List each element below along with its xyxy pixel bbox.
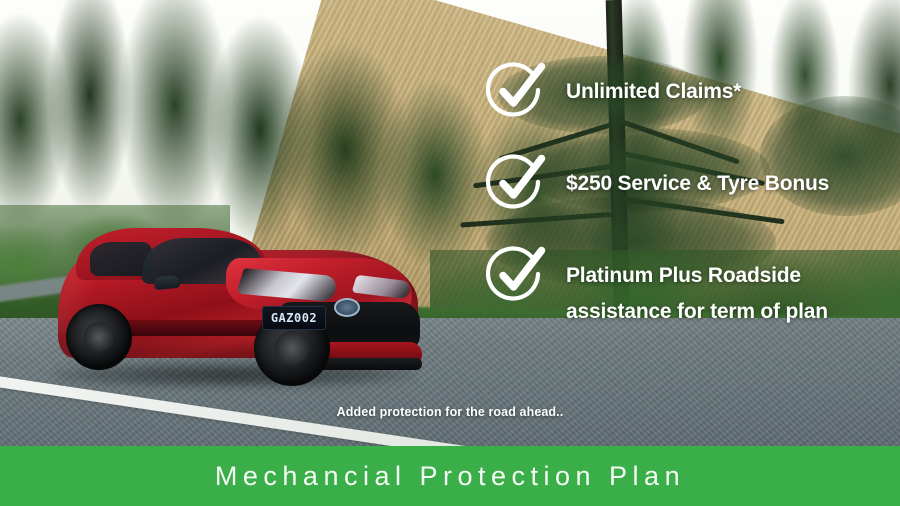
benefit-item: Unlimited Claims* bbox=[486, 64, 886, 122]
license-plate: GAZ002 bbox=[262, 306, 326, 330]
benefit-label: Unlimited Claims* bbox=[566, 64, 741, 110]
caption-text: Added protection for the road ahead.. bbox=[0, 405, 900, 419]
car-side-mirror bbox=[153, 275, 180, 291]
car-rear-wheel bbox=[66, 304, 132, 370]
benefit-line-2: assistance for term of plan bbox=[566, 294, 828, 330]
car-brand-emblem-icon bbox=[334, 298, 360, 317]
benefit-label: Platinum Plus Roadside assistance for te… bbox=[566, 248, 828, 330]
wheel-hub bbox=[84, 322, 114, 352]
check-circle-icon bbox=[486, 60, 548, 122]
check-circle-icon bbox=[486, 152, 548, 214]
red-car bbox=[58, 224, 430, 384]
footer-title: Mechancial Protection Plan bbox=[215, 463, 685, 490]
benefit-item: $250 Service & Tyre Bonus bbox=[486, 156, 886, 214]
footer-bar: Mechancial Protection Plan bbox=[0, 446, 900, 506]
benefit-line-1: $250 Service & Tyre Bonus bbox=[566, 172, 829, 195]
mechanical-protection-plan-banner: GAZ002 Unlimited Claims* bbox=[0, 0, 900, 506]
benefit-item: Platinum Plus Roadside assistance for te… bbox=[486, 248, 886, 330]
benefit-label: $250 Service & Tyre Bonus bbox=[566, 156, 829, 202]
benefit-line-1: Unlimited Claims* bbox=[566, 80, 741, 103]
check-circle-icon bbox=[486, 244, 548, 306]
license-plate-text: GAZ002 bbox=[271, 312, 317, 324]
wheel-hub bbox=[275, 331, 310, 366]
benefits-list: Unlimited Claims* $250 Service & Tyre Bo… bbox=[486, 64, 886, 330]
benefit-line-1: Platinum Plus Roadside bbox=[566, 264, 801, 287]
